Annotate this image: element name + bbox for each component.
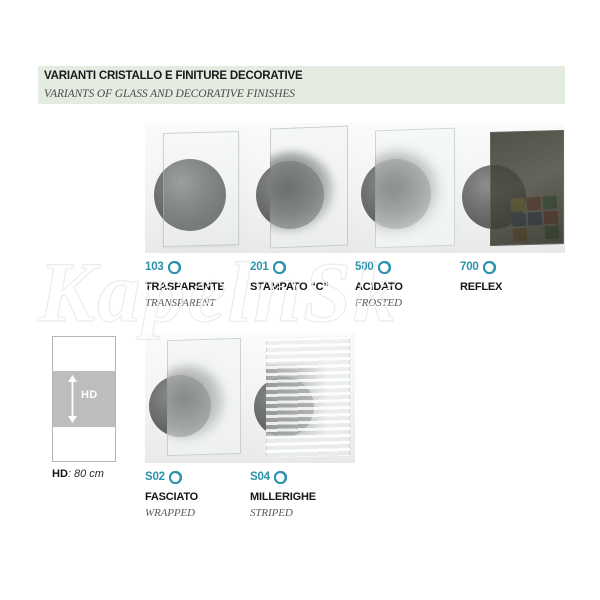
glass-plate-transparent: [163, 131, 239, 247]
sample-stampato-c[interactable]: 201 STAMPATO “C”: [250, 123, 355, 313]
sample-code: 103: [145, 261, 164, 273]
hd-band-label: HD: [81, 389, 98, 401]
glass-plate-wrapped: [167, 338, 241, 456]
swatch-image-fasciato: [145, 333, 250, 463]
sample-name-it: TRASPARENTE: [145, 281, 225, 293]
glass-finish-icon: [274, 471, 287, 484]
code-row: 700: [460, 259, 496, 275]
sample-name-en: TRANSPARENT: [145, 297, 215, 309]
sample-name-en: FROSTED: [355, 297, 402, 309]
swatch-image-millerighe: [250, 333, 355, 463]
sample-code: 700: [460, 261, 479, 273]
code-row: S02: [145, 469, 182, 485]
code-row: S04: [250, 469, 287, 485]
sample-millerighe[interactable]: S04 MILLERIGHE STRIPED: [250, 333, 355, 523]
sample-code: S02: [145, 471, 165, 483]
glass-finish-icon: [273, 261, 286, 274]
page-title: VARIANTI CRISTALLO E FINITURE DECORATIVE: [44, 70, 302, 82]
sample-acidato[interactable]: 500 ACIDATO FROSTED: [355, 123, 460, 313]
code-row: 103: [145, 259, 181, 275]
sample-code: 201: [250, 261, 269, 273]
swatch-image-acidato: [355, 123, 460, 253]
sample-name-en: WRAPPED: [145, 507, 195, 519]
swatch-image-trasparente: [145, 123, 250, 253]
swatch-image-stampato-c: [250, 123, 355, 253]
glass-finish-icon: [378, 261, 391, 274]
sample-name-en: STRIPED: [250, 507, 293, 519]
sample-trasparente[interactable]: 103 TRASPARENTE TRANSPARENT: [145, 123, 250, 313]
hd-diagram: HD: [52, 336, 116, 462]
sample-name-it: STAMPATO “C”: [250, 281, 329, 293]
swatch-image-reflex: [460, 123, 565, 253]
hd-dimension-arrow-icon: [67, 375, 78, 423]
code-row: 500: [355, 259, 391, 275]
glass-finish-icon: [169, 471, 182, 484]
glass-plate-frosted: [375, 128, 455, 249]
glass-plate-stampato: [270, 126, 348, 249]
hd-caption: HD: 80 cm: [52, 468, 104, 480]
glass-finish-icon: [483, 261, 496, 274]
hd-caption-value: : 80 cm: [68, 468, 104, 480]
glass-finish-icon: [168, 261, 181, 274]
glass-plate-striped: [266, 336, 350, 458]
sample-name-it: REFLEX: [460, 281, 502, 293]
hd-caption-key: HD: [52, 468, 68, 480]
sample-fasciato[interactable]: S02 FASCIATO WRAPPED: [145, 333, 250, 523]
sample-code: S04: [250, 471, 270, 483]
sample-code: 500: [355, 261, 374, 273]
sample-reflex[interactable]: 700 REFLEX: [460, 123, 565, 313]
code-row: 201: [250, 259, 286, 275]
sample-name-it: FASCIATO: [145, 491, 198, 503]
sample-name-it: MILLERIGHE: [250, 491, 316, 503]
glass-plate-reflex: [490, 130, 564, 246]
page-subtitle: VARIANTS OF GLASS AND DECORATIVE FINISHE…: [44, 88, 295, 100]
sample-name-it: ACIDATO: [355, 281, 403, 293]
